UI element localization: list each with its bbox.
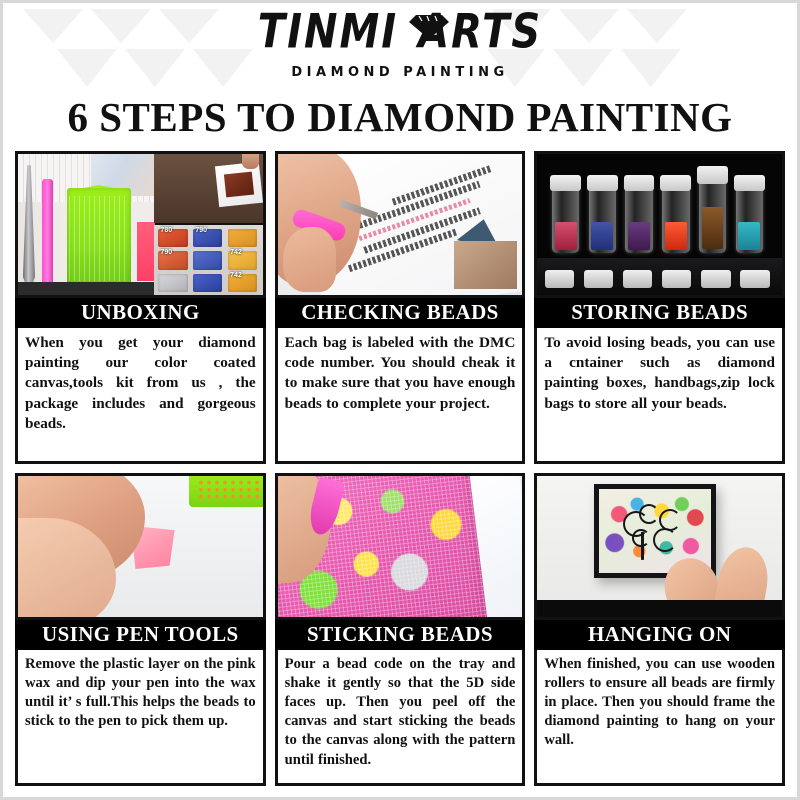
step-body-hanging-on: When finished, you can use wooden roller… bbox=[534, 650, 785, 786]
step-card-unboxing: 780 790 742 790 742 UNBOXING When you ge… bbox=[15, 151, 266, 464]
step-body-sticking-beads: Pour a bead code on the tray and shake i… bbox=[275, 650, 526, 786]
bead-bag-label: 780 bbox=[160, 227, 172, 234]
diamond-icon bbox=[406, 14, 452, 40]
step-photo-checking-beads bbox=[275, 151, 526, 298]
step-card-using-pen-tools: USING PEN TOOLS Remove the plastic layer… bbox=[15, 473, 266, 786]
step-photo-sticking-beads bbox=[275, 473, 526, 620]
bead-bag-label: 742 bbox=[230, 249, 242, 256]
logo-wordmark: TINMI ARTS bbox=[258, 8, 542, 55]
step-photo-storing-beads bbox=[534, 151, 785, 298]
logo-tagline: DIAMOND PAINTING bbox=[291, 66, 508, 79]
bead-bag-label: 790 bbox=[195, 227, 207, 234]
step-photo-hanging-on bbox=[534, 473, 785, 620]
step-caption-unboxing: UNBOXING bbox=[15, 298, 266, 328]
step-body-unboxing: When you get your diamond painting our c… bbox=[15, 328, 266, 464]
step-text-unboxing: When you get your diamond painting our c… bbox=[25, 333, 256, 434]
step-card-checking-beads: CHECKING BEADS Each bag is labeled with … bbox=[275, 151, 526, 464]
logo-word-tinmi: TINMI bbox=[258, 8, 398, 55]
brand-header: TINMI ARTS DIAMOND PAINTING bbox=[3, 3, 797, 91]
step-photo-unboxing: 780 790 742 790 742 bbox=[15, 151, 266, 298]
step-caption-hanging-on: HANGING ON bbox=[534, 620, 785, 650]
step-photo-using-pen-tools bbox=[15, 473, 266, 620]
step-caption-storing-beads: STORING BEADS bbox=[534, 298, 785, 328]
step-text-hanging-on: When finished, you can use wooden roller… bbox=[544, 655, 775, 751]
logo: TINMI ARTS DIAMOND PAINTING bbox=[258, 16, 542, 79]
step-text-checking-beads: Each bag is labeled with the DMC code nu… bbox=[285, 333, 516, 414]
step-card-hanging-on: HANGING ON When finished, you can use wo… bbox=[534, 473, 785, 786]
step-caption-sticking-beads: STICKING BEADS bbox=[275, 620, 526, 650]
step-caption-using-pen-tools: USING PEN TOOLS bbox=[15, 620, 266, 650]
step-body-using-pen-tools: Remove the plastic layer on the pink wax… bbox=[15, 650, 266, 786]
step-text-sticking-beads: Pour a bead code on the tray and shake i… bbox=[285, 655, 516, 770]
bead-bag-label: 742 bbox=[230, 272, 242, 279]
step-body-checking-beads: Each bag is labeled with the DMC code nu… bbox=[275, 328, 526, 464]
bead-bags-group: 780 790 742 790 742 bbox=[154, 225, 263, 296]
step-caption-checking-beads: CHECKING BEADS bbox=[275, 298, 526, 328]
step-body-storing-beads: To avoid losing beads, you can use a cnt… bbox=[534, 328, 785, 464]
steps-grid: 780 790 742 790 742 UNBOXING When you ge… bbox=[3, 151, 797, 796]
step-card-storing-beads: STORING BEADS To avoid losing beads, you… bbox=[534, 151, 785, 464]
bead-bag-label: 790 bbox=[160, 249, 172, 256]
step-text-storing-beads: To avoid losing beads, you can use a cnt… bbox=[544, 333, 775, 414]
page-title: 6 STEPS TO DIAMOND PAINTING bbox=[3, 93, 797, 141]
step-card-sticking-beads: STICKING BEADS Pour a bead code on the t… bbox=[275, 473, 526, 786]
step-text-using-pen-tools: Remove the plastic layer on the pink wax… bbox=[25, 655, 256, 731]
infographic-page: TINMI ARTS DIAMOND PAINTING 6 STEPS TO D… bbox=[0, 0, 800, 800]
